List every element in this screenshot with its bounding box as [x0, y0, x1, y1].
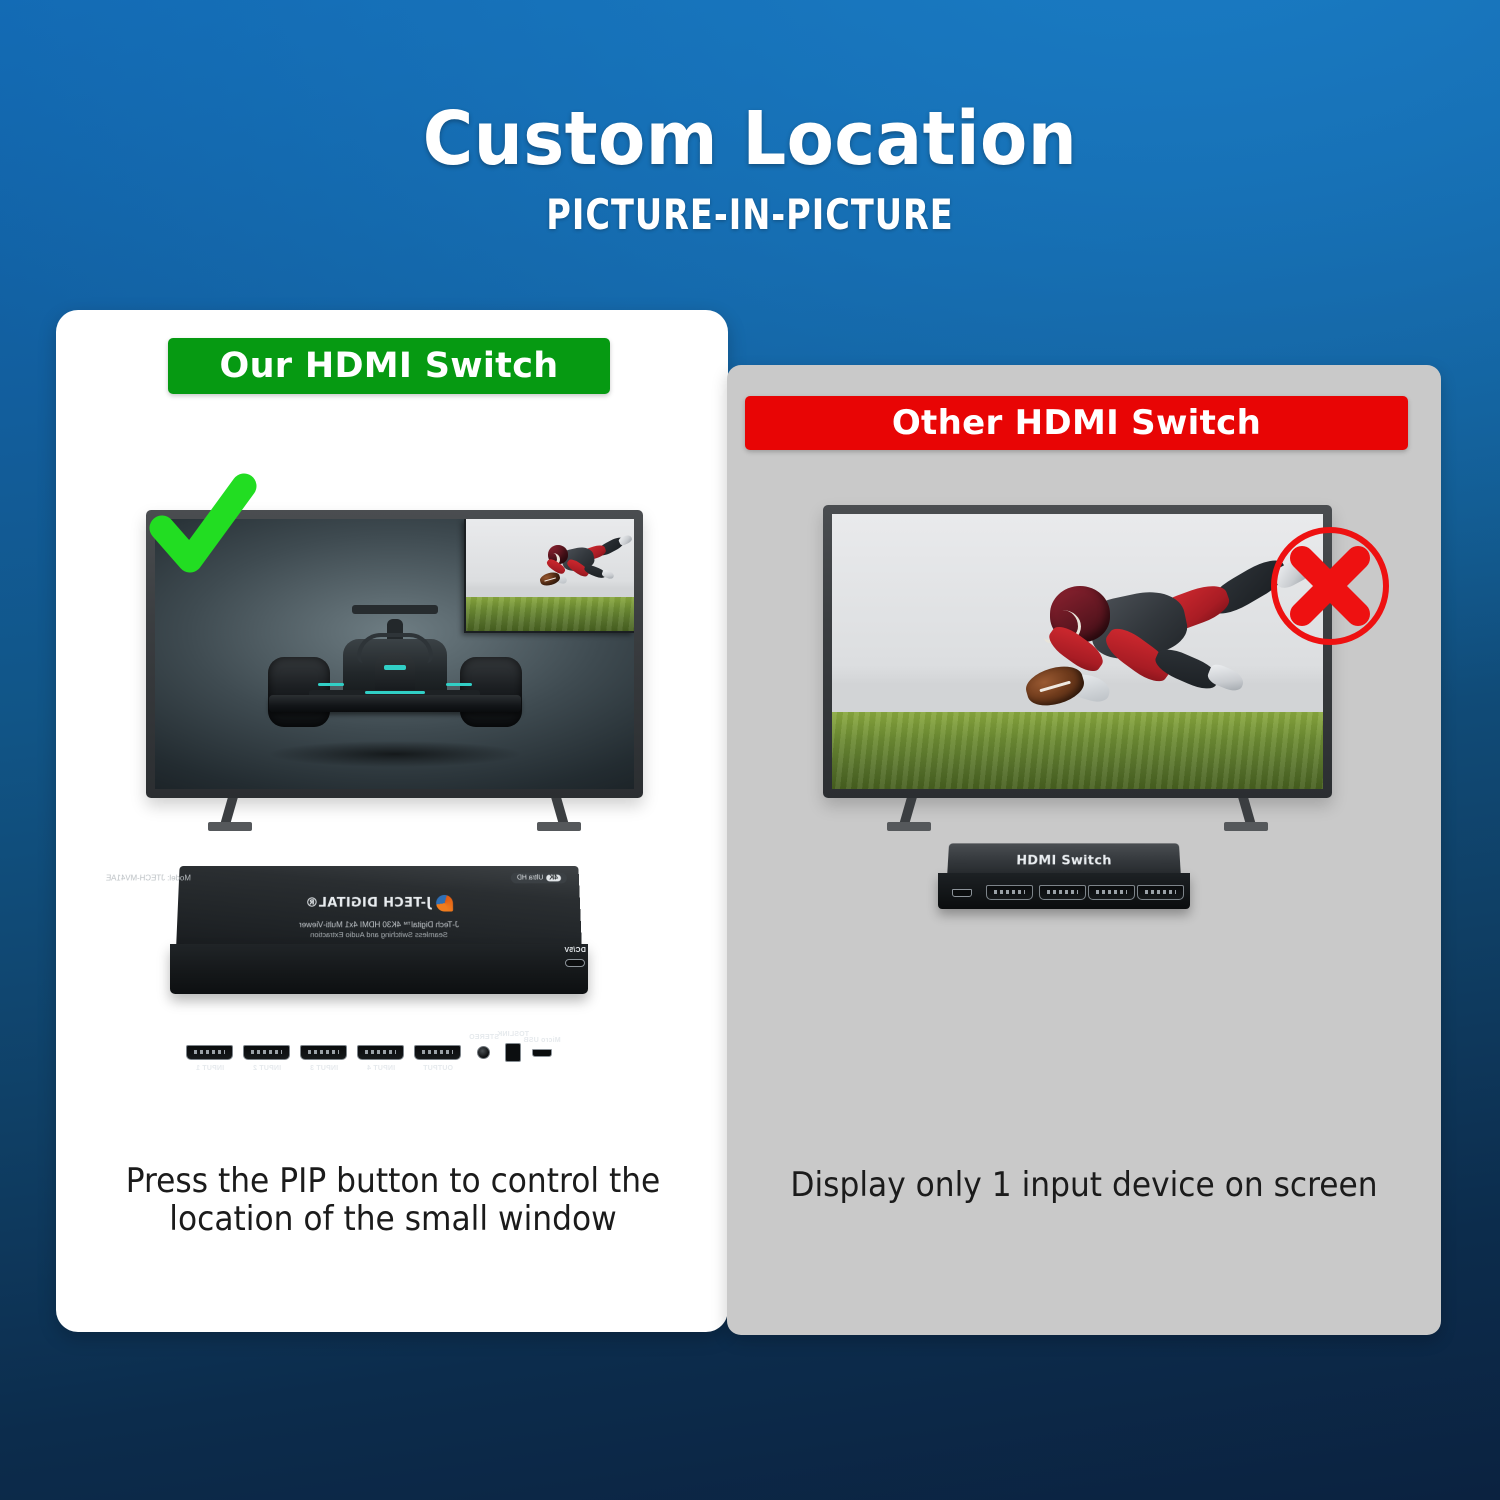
port-label-input-2: INPUT 2 — [252, 1065, 280, 1072]
football-player-graphic — [540, 537, 632, 599]
tagline-line-2: Seamless Switching and Audio Extraction — [299, 930, 459, 939]
port-input-3: INPUT 3 — [300, 1045, 347, 1060]
port-micro-usb: Micro USB — [532, 1049, 552, 1057]
badge-other-hdmi-switch: Other HDMI Switch — [745, 396, 1408, 450]
port-input-4: INPUT 4 — [357, 1045, 404, 1060]
right-tv-foot-right — [1224, 822, 1268, 831]
port-stereo: STEREO — [477, 1046, 490, 1059]
port-input-2: INPUT 2 — [243, 1045, 290, 1060]
right-tv-stand-left — [899, 798, 916, 824]
other-port-micro-usb — [952, 889, 972, 897]
right-caption-line-1: Display only 1 input device on screen — [769, 1166, 1398, 1204]
port-label-input-4: INPUT 4 — [366, 1065, 394, 1072]
check-icon — [148, 472, 258, 578]
port-label-input-1: INPUT 1 — [195, 1065, 223, 1072]
our-device-model: Model: JTECH-MV41AE — [106, 874, 191, 883]
port-label-output: OUTPUT — [423, 1065, 453, 1072]
other-device-label: HDMI Switch — [1016, 854, 1112, 868]
port-label-micro-usb: Micro USB — [523, 1037, 560, 1044]
right-tv-screen — [832, 514, 1323, 789]
page-title: Custom Location — [53, 96, 1448, 182]
uhd-badge: 4K Ultra HD — [511, 873, 567, 884]
infographic-root: Custom Location PICTURE-IN-PICTURE Our H… — [0, 0, 1500, 1500]
brand-name: J-TECH DIGITAL® — [305, 896, 431, 911]
badge-our-hdmi-switch: Our HDMI Switch — [168, 338, 610, 394]
uhd-badge-k: 4K — [546, 875, 561, 882]
swirl-icon — [436, 895, 453, 912]
cross-icon — [1266, 522, 1394, 650]
other-port-hdmi-2 — [1039, 885, 1086, 900]
pip-window — [464, 519, 634, 633]
left-tv-stand-left — [220, 798, 237, 824]
other-port-hdmi-1 — [986, 885, 1033, 900]
right-tv-foot-left — [887, 822, 931, 831]
our-device-top-face: Model: JTECH-MV41AE 4K Ultra HD J-TECH D… — [176, 866, 582, 950]
j-tech-digital-logo: J-TECH DIGITAL® — [305, 895, 453, 912]
pip-scene-football — [466, 519, 634, 631]
right-tv-bezel — [823, 505, 1332, 798]
port-input-1: INPUT 1 — [186, 1045, 233, 1060]
f1-car-graphic — [300, 621, 490, 751]
left-caption-line-2: location of the small window — [103, 1200, 683, 1238]
left-tv-stand-right — [551, 798, 568, 824]
right-tv-stand-right — [1238, 798, 1255, 824]
right-caption: Display only 1 input device on screen — [769, 1166, 1398, 1204]
page-subtitle: PICTURE-IN-PICTURE — [150, 190, 1350, 239]
port-toslink: TOSLINK — [505, 1043, 521, 1062]
left-caption: Press the PIP button to control the loca… — [103, 1162, 683, 1238]
left-caption-line-1: Press the PIP button to control the — [103, 1162, 683, 1200]
left-tv-foot-left — [208, 822, 252, 831]
other-port-hdmi-3 — [1088, 885, 1135, 900]
port-label-input-3: INPUT 3 — [309, 1065, 337, 1072]
other-hdmi-switch-device: HDMI Switch — [938, 842, 1190, 914]
our-device-port-face: INPUT 1 INPUT 2 INPUT 3 INPUT 4 OUTPUT — [170, 944, 588, 994]
tagline-line-1: J-Tech Digital™ 4K30 HDMI 4x1 Multi-View… — [299, 920, 459, 930]
port-output: OUTPUT — [414, 1045, 461, 1060]
other-port-hdmi-4 — [1137, 885, 1184, 900]
port-label-stereo: STEREO — [469, 1034, 499, 1041]
our-hdmi-switch-device: Model: JTECH-MV41AE 4K Ultra HD J-TECH D… — [170, 864, 588, 1004]
other-device-port-face — [938, 873, 1190, 909]
our-device-tagline: J-Tech Digital™ 4K30 HDMI 4x1 Multi-View… — [299, 920, 459, 939]
uhd-badge-text: Ultra HD — [517, 875, 544, 882]
right-tv — [823, 505, 1332, 830]
scene-football-full — [832, 514, 1323, 789]
port-row: INPUT 1 INPUT 2 INPUT 3 INPUT 4 OUTPUT — [170, 1024, 588, 1074]
left-tv-foot-right — [537, 822, 581, 831]
